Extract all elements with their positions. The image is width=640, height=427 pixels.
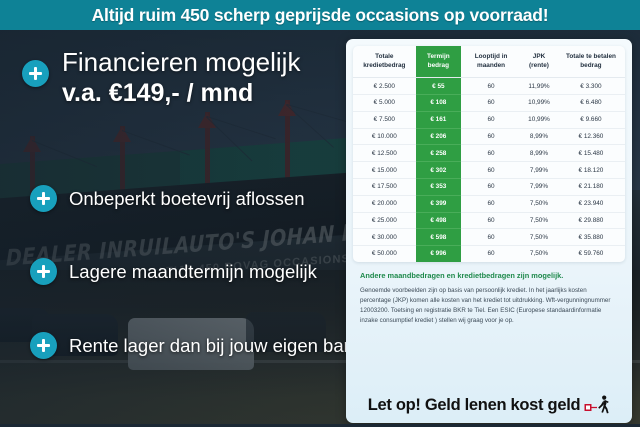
cell-totaal: € 18.120 xyxy=(557,162,625,179)
table-row: € 5.000€ 1086010,99%€ 6.480 xyxy=(353,95,625,112)
cell-looptijd: 60 xyxy=(461,246,521,262)
cell-looptijd: 60 xyxy=(461,229,521,246)
table-row: € 7.500€ 1616010,99%€ 9.660 xyxy=(353,111,625,128)
cell-jkp: 7,99% xyxy=(521,162,557,179)
promo-bullet-3-label: Rente lager dan bij jouw eigen bank xyxy=(69,335,363,357)
header-looptijd: Looptijd in maanden xyxy=(461,46,521,78)
cell-jkp: 7,50% xyxy=(521,212,557,229)
cell-looptijd: 60 xyxy=(461,111,521,128)
promo-headline-line1: Financieren mogelijk xyxy=(22,48,334,76)
cell-jkp: 10,99% xyxy=(521,95,557,112)
cell-jkp: 10,99% xyxy=(521,111,557,128)
table-head: Totale kredietbedrag Termijn bedrag Loop… xyxy=(353,46,625,78)
cell-termijn: € 302 xyxy=(416,162,461,179)
cell-looptijd: 60 xyxy=(461,162,521,179)
cell-jkp: 7,50% xyxy=(521,229,557,246)
headline-block: Financieren mogelijk v.a. €149,- / mnd xyxy=(22,48,334,108)
promo-bullet-2: Lagere maandtermijn mogelijk xyxy=(30,258,345,285)
disclaimer-title: Andere maandbedragen en kredietbedragen … xyxy=(360,271,618,281)
cell-krediet: € 15.000 xyxy=(353,162,416,179)
financing-rates-table: Totale kredietbedrag Termijn bedrag Loop… xyxy=(353,46,625,262)
cell-krediet: € 12.500 xyxy=(353,145,416,162)
cell-krediet: € 2.500 xyxy=(353,78,416,95)
cell-looptijd: 60 xyxy=(461,178,521,195)
cell-looptijd: 60 xyxy=(461,78,521,95)
cell-termijn: € 206 xyxy=(416,128,461,145)
cell-termijn: € 258 xyxy=(416,145,461,162)
cell-krediet: € 7.500 xyxy=(353,111,416,128)
plus-icon-bullet-2 xyxy=(30,258,57,285)
credit-warning: Let op! Geld lenen kost geld xyxy=(346,395,632,415)
banner-headline: Altijd ruim 450 scherp geprijsde occasio… xyxy=(92,5,549,26)
cell-termijn: € 161 xyxy=(416,111,461,128)
cell-termijn: € 108 xyxy=(416,95,461,112)
cell-totaal: € 15.480 xyxy=(557,145,625,162)
header-totaal: Totale te betalen bedrag xyxy=(557,46,625,78)
promo-bullet-1-label: Onbeperkt boetevrij aflossen xyxy=(69,188,305,210)
rates-table-container: Totale kredietbedrag Termijn bedrag Loop… xyxy=(353,46,625,262)
cell-termijn: € 399 xyxy=(416,195,461,212)
cell-jkp: 7,50% xyxy=(521,195,557,212)
cell-looptijd: 60 xyxy=(461,212,521,229)
header-termijn: Termijn bedrag xyxy=(416,46,461,78)
table-row: € 25.000€ 498607,50%€ 29.880 xyxy=(353,212,625,229)
cell-totaal: € 6.480 xyxy=(557,95,625,112)
table-row: € 12.500€ 258608,99%€ 15.480 xyxy=(353,145,625,162)
cell-krediet: € 17.500 xyxy=(353,178,416,195)
cell-jkp: 8,99% xyxy=(521,128,557,145)
promo-content: Financieren mogelijk v.a. €149,- / mnd O… xyxy=(0,30,345,427)
header-jkp: JPK (rente) xyxy=(521,46,557,78)
financing-card: Totale kredietbedrag Termijn bedrag Loop… xyxy=(346,39,632,423)
afm-walking-man-icon xyxy=(584,395,610,415)
plus-icon-bullet-1 xyxy=(30,185,57,212)
table-header-row: Totale kredietbedrag Termijn bedrag Loop… xyxy=(353,46,625,78)
cell-krediet: € 20.000 xyxy=(353,195,416,212)
plus-icon-headline xyxy=(22,60,49,87)
cell-krediet: € 50.000 xyxy=(353,246,416,262)
cell-totaal: € 29.880 xyxy=(557,212,625,229)
cell-looptijd: 60 xyxy=(461,128,521,145)
cell-totaal: € 3.300 xyxy=(557,78,625,95)
credit-warning-label: Let op! Geld lenen kost geld xyxy=(368,396,581,415)
cell-jkp: 7,99% xyxy=(521,178,557,195)
table-row: € 2.500€ 556011,99%€ 3.300 xyxy=(353,78,625,95)
promo-bullet-1: Onbeperkt boetevrij aflossen xyxy=(30,185,345,212)
table-row: € 50.000€ 996607,50%€ 59.760 xyxy=(353,246,625,262)
cell-termijn: € 353 xyxy=(416,178,461,195)
cell-totaal: € 9.660 xyxy=(557,111,625,128)
cell-totaal: € 12.360 xyxy=(557,128,625,145)
header-krediet: Totale kredietbedrag xyxy=(353,46,416,78)
cell-totaal: € 23.940 xyxy=(557,195,625,212)
top-banner: Altijd ruim 450 scherp geprijsde occasio… xyxy=(0,0,640,30)
table-row: € 10.000€ 206608,99%€ 12.360 xyxy=(353,128,625,145)
cell-krediet: € 25.000 xyxy=(353,212,416,229)
cell-looptijd: 60 xyxy=(461,95,521,112)
cell-totaal: € 35.880 xyxy=(557,229,625,246)
cell-looptijd: 60 xyxy=(461,145,521,162)
cell-jkp: 8,99% xyxy=(521,145,557,162)
cell-krediet: € 5.000 xyxy=(353,95,416,112)
table-row: € 20.000€ 399607,50%€ 23.940 xyxy=(353,195,625,212)
table-row: € 17.500€ 353607,99%€ 21.180 xyxy=(353,178,625,195)
cell-jkp: 11,99% xyxy=(521,78,557,95)
table-row: € 30.000€ 598607,50%€ 35.880 xyxy=(353,229,625,246)
cell-krediet: € 30.000 xyxy=(353,229,416,246)
cell-termijn: € 598 xyxy=(416,229,461,246)
cell-jkp: 7,50% xyxy=(521,246,557,262)
cell-totaal: € 21.180 xyxy=(557,178,625,195)
table-body: € 2.500€ 556011,99%€ 3.300€ 5.000€ 10860… xyxy=(353,78,625,262)
table-row: € 15.000€ 302607,99%€ 18.120 xyxy=(353,162,625,179)
promo-bullet-2-label: Lagere maandtermijn mogelijk xyxy=(69,261,317,283)
cell-termijn: € 55 xyxy=(416,78,461,95)
plus-icon-bullet-3 xyxy=(30,332,57,359)
cell-totaal: € 59.760 xyxy=(557,246,625,262)
promo-headline-line2: v.a. €149,- / mnd xyxy=(22,78,334,108)
disclaimer-body: Genoemde voorbeelden zijn op basis van p… xyxy=(360,286,618,326)
cell-looptijd: 60 xyxy=(461,195,521,212)
cell-krediet: € 10.000 xyxy=(353,128,416,145)
cell-termijn: € 498 xyxy=(416,212,461,229)
promo-bullet-3: Rente lager dan bij jouw eigen bank xyxy=(30,332,345,359)
cell-termijn: € 996 xyxy=(416,246,461,262)
